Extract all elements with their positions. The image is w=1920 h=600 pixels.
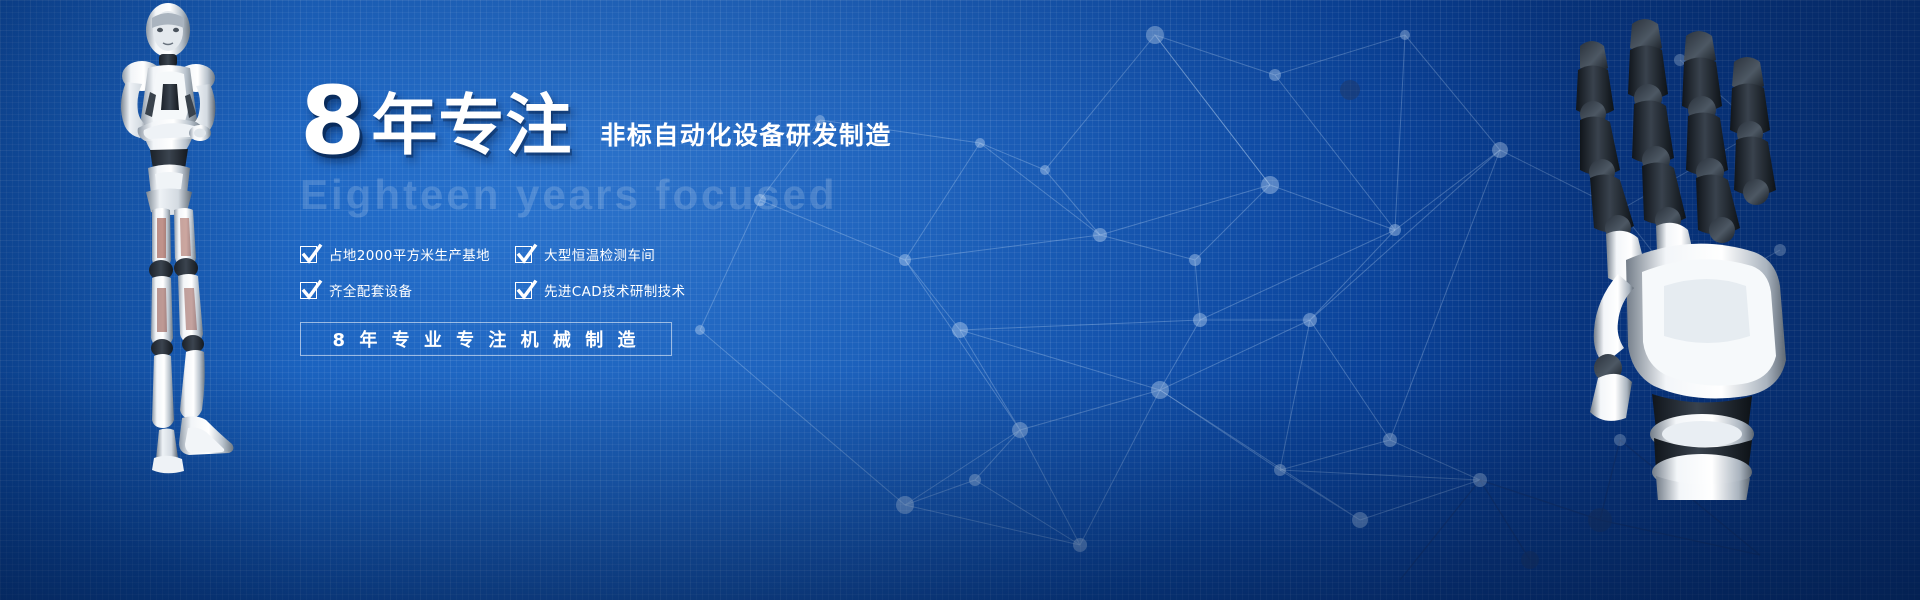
headline-row: 8 年专注 非标自动化设备研发制造	[300, 72, 1200, 164]
hero-banner: 8 年专注 非标自动化设备研发制造 Eighteen years focused…	[0, 0, 1920, 600]
checkbox-checked-icon	[300, 246, 317, 263]
feature-item: 齐全配套设备	[300, 280, 515, 300]
feature-list: 占地2000平方米生产基地 大型恒温检测车间 齐全配套设备 先进CAD技术研制技…	[300, 244, 1200, 300]
feature-label: 齐全配套设备	[329, 280, 412, 300]
feature-item: 大型恒温检测车间	[515, 244, 745, 264]
banner-content: 8 年专注 非标自动化设备研发制造 Eighteen years focused…	[300, 72, 1200, 362]
robotic-hand-figure	[1560, 10, 1920, 500]
slogan-box: 8 年 专 业 专 注 机 械 制 造	[300, 322, 672, 356]
feature-label: 先进CAD技术研制技术	[544, 280, 685, 300]
headline-english: Eighteen years focused	[300, 172, 1200, 218]
feature-label: 占地2000平方米生产基地	[329, 244, 490, 264]
checkbox-checked-icon	[515, 282, 532, 299]
checkbox-checked-icon	[515, 246, 532, 263]
headline-subtitle: 非标自动化设备研发制造	[600, 116, 892, 164]
humanoid-robot-figure	[60, 0, 280, 495]
years-number: 8	[300, 81, 363, 164]
headline-cn: 年专注	[371, 93, 572, 164]
feature-item: 占地2000平方米生产基地	[300, 244, 515, 264]
slogan-text: 8 年 专 业 专 注 机 械 制 造	[333, 326, 640, 352]
checkbox-checked-icon	[300, 282, 317, 299]
feature-item: 先进CAD技术研制技术	[515, 280, 745, 300]
feature-label: 大型恒温检测车间	[544, 244, 655, 264]
